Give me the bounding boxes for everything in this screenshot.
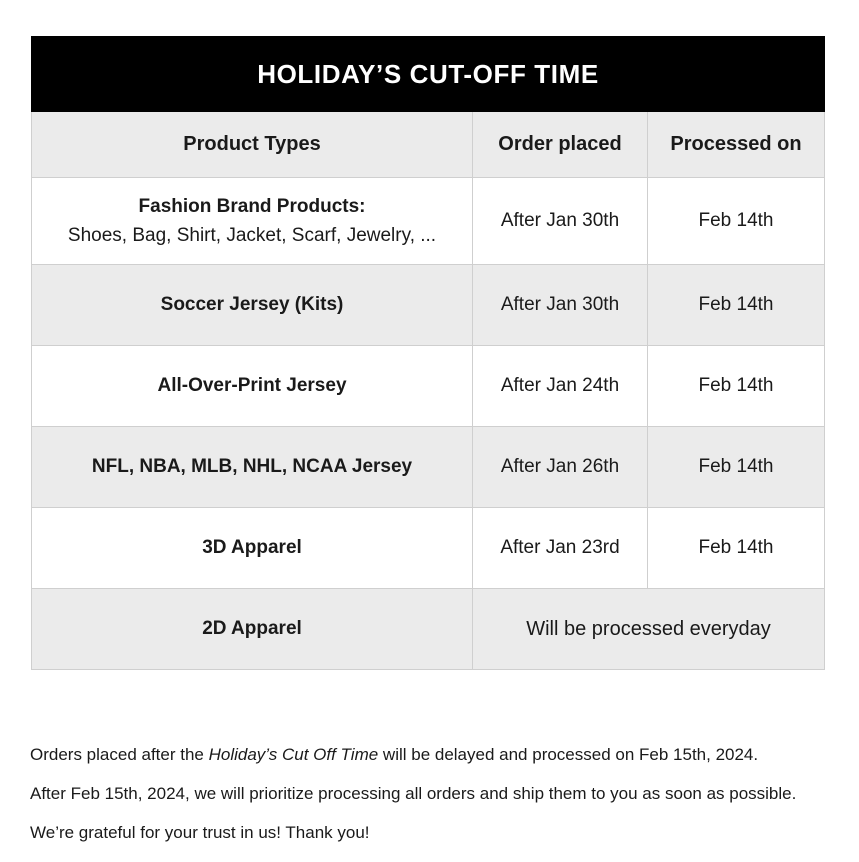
cell-product-type: Soccer Jersey (Kits) <box>32 265 473 346</box>
table-body: Fashion Brand Products: Shoes, Bag, Shir… <box>32 178 825 670</box>
table-row: NFL, NBA, MLB, NHL, NCAA Jersey After Ja… <box>32 427 825 508</box>
cell-processed-on: Feb 14th <box>648 508 825 589</box>
cell-product-type: Fashion Brand Products: Shoes, Bag, Shir… <box>32 178 473 265</box>
cell-order-placed: After Jan 30th <box>473 178 648 265</box>
page-title: HOLIDAY’S CUT-OFF TIME <box>32 37 824 111</box>
cell-order-placed: After Jan 30th <box>473 265 648 346</box>
cell-product-type: All-Over-Print Jersey <box>32 346 473 427</box>
column-header-row: Product Types Order placed Processed on <box>32 112 825 178</box>
table-row: All-Over-Print Jersey After Jan 24th Feb… <box>32 346 825 427</box>
product-title: Fashion Brand Products: <box>139 196 366 217</box>
cell-processed-on: Feb 14th <box>648 346 825 427</box>
table-row: Fashion Brand Products: Shoes, Bag, Shir… <box>32 178 825 265</box>
cell-processed-on: Feb 14th <box>648 178 825 265</box>
cell-merged-note: Will be processed everyday <box>473 589 825 670</box>
cell-processed-on: Feb 14th <box>648 427 825 508</box>
note-line-2: After Feb 15th, 2024, we will prioritize… <box>30 774 859 813</box>
cell-product-type: 3D Apparel <box>32 508 473 589</box>
column-header-product-types: Product Types <box>32 112 473 178</box>
cell-product-type: NFL, NBA, MLB, NHL, NCAA Jersey <box>32 427 473 508</box>
note-1-before: Orders placed after the <box>30 745 209 764</box>
table-row: Soccer Jersey (Kits) After Jan 30th Feb … <box>32 265 825 346</box>
note-1-emphasis: Holiday’s Cut Off Time <box>209 745 379 764</box>
note-1-after: will be delayed and processed on Feb 15t… <box>378 745 758 764</box>
cell-processed-on: Feb 14th <box>648 265 825 346</box>
cell-order-placed: After Jan 26th <box>473 427 648 508</box>
table-title-cell: HOLIDAY’S CUT-OFF TIME <box>32 37 825 112</box>
cell-order-placed: After Jan 23rd <box>473 508 648 589</box>
footer-notes: Orders placed after the Holiday’s Cut Of… <box>30 735 859 852</box>
column-header-order-placed: Order placed <box>473 112 648 178</box>
holiday-cutoff-table: HOLIDAY’S CUT-OFF TIME Product Types Ord… <box>31 36 825 670</box>
page-root: HOLIDAY’S CUT-OFF TIME Product Types Ord… <box>0 0 859 862</box>
table-row: 2D Apparel Will be processed everyday <box>32 589 825 670</box>
cell-product-type: 2D Apparel <box>32 589 473 670</box>
column-header-processed-on: Processed on <box>648 112 825 178</box>
product-subtitle: Shoes, Bag, Shirt, Jacket, Scarf, Jewelr… <box>42 221 462 250</box>
table-head: HOLIDAY’S CUT-OFF TIME Product Types Ord… <box>32 37 825 178</box>
table-row: 3D Apparel After Jan 23rd Feb 14th <box>32 508 825 589</box>
title-row: HOLIDAY’S CUT-OFF TIME <box>32 37 825 112</box>
note-line-3: We’re grateful for your trust in us! Tha… <box>30 813 859 852</box>
note-line-1: Orders placed after the Holiday’s Cut Of… <box>30 735 859 774</box>
cell-order-placed: After Jan 24th <box>473 346 648 427</box>
